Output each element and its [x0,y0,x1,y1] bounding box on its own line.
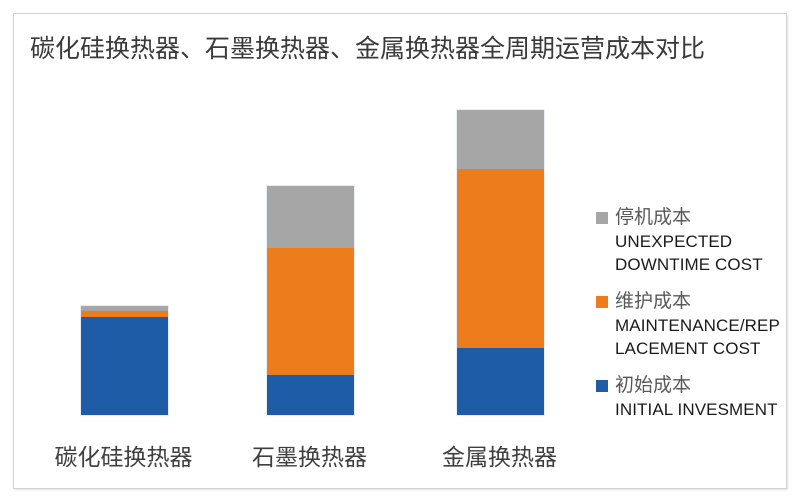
bar-segment-initial-cost[interactable] [81,317,168,415]
stacked-bar[interactable] [80,305,169,416]
bar-segment-downtime-cost[interactable] [457,110,544,169]
legend-label-maintenance-cn: 维护成本 [615,290,691,314]
chart-legend: 停机成本 UNEXPECTED DOWNTIME COST 维护成本 MAINT… [596,206,788,435]
stacked-bar[interactable] [266,185,355,416]
legend-head: 初始成本 [596,374,788,398]
legend-head: 停机成本 [596,206,788,230]
legend-label-initial-cn: 初始成本 [615,374,691,398]
legend-label-maintenance-en: MAINTENANCE/REP LACEMENT COST [615,314,788,360]
bar-segment-maintenance-cost[interactable] [457,169,544,348]
legend-label-initial-en: INITIAL INVESMENT [615,398,788,421]
legend-item-initial-cost[interactable]: 初始成本 INITIAL INVESMENT [596,374,788,421]
bar-segment-initial-cost[interactable] [267,375,354,415]
legend-item-maintenance-cost[interactable]: 维护成本 MAINTENANCE/REP LACEMENT COST [596,290,788,360]
chart-card: 碳化硅换热器、石墨换热器、金属换热器全周期运营成本对比 碳化硅换热器 石墨换热器 [13,13,787,489]
legend-item-downtime-cost[interactable]: 停机成本 UNEXPECTED DOWNTIME COST [596,206,788,276]
legend-head: 维护成本 [596,290,788,314]
bar-segment-downtime-cost[interactable] [267,186,354,248]
legend-swatch-downtime-icon [596,212,608,224]
legend-label-downtime-cn: 停机成本 [615,206,691,230]
bar-segment-initial-cost[interactable] [457,348,544,415]
legend-swatch-maintenance-icon [596,296,608,308]
bar-segment-maintenance-cost[interactable] [267,248,354,375]
legend-label-downtime-en: UNEXPECTED DOWNTIME COST [615,230,788,276]
legend-swatch-initial-icon [596,380,608,392]
category-label-graphite: 石墨换热器 [238,442,381,472]
category-label-silicon-carbide: 碳化硅换热器 [52,442,195,472]
stacked-bar[interactable] [456,109,545,416]
category-label-metal: 金属换热器 [428,442,571,472]
